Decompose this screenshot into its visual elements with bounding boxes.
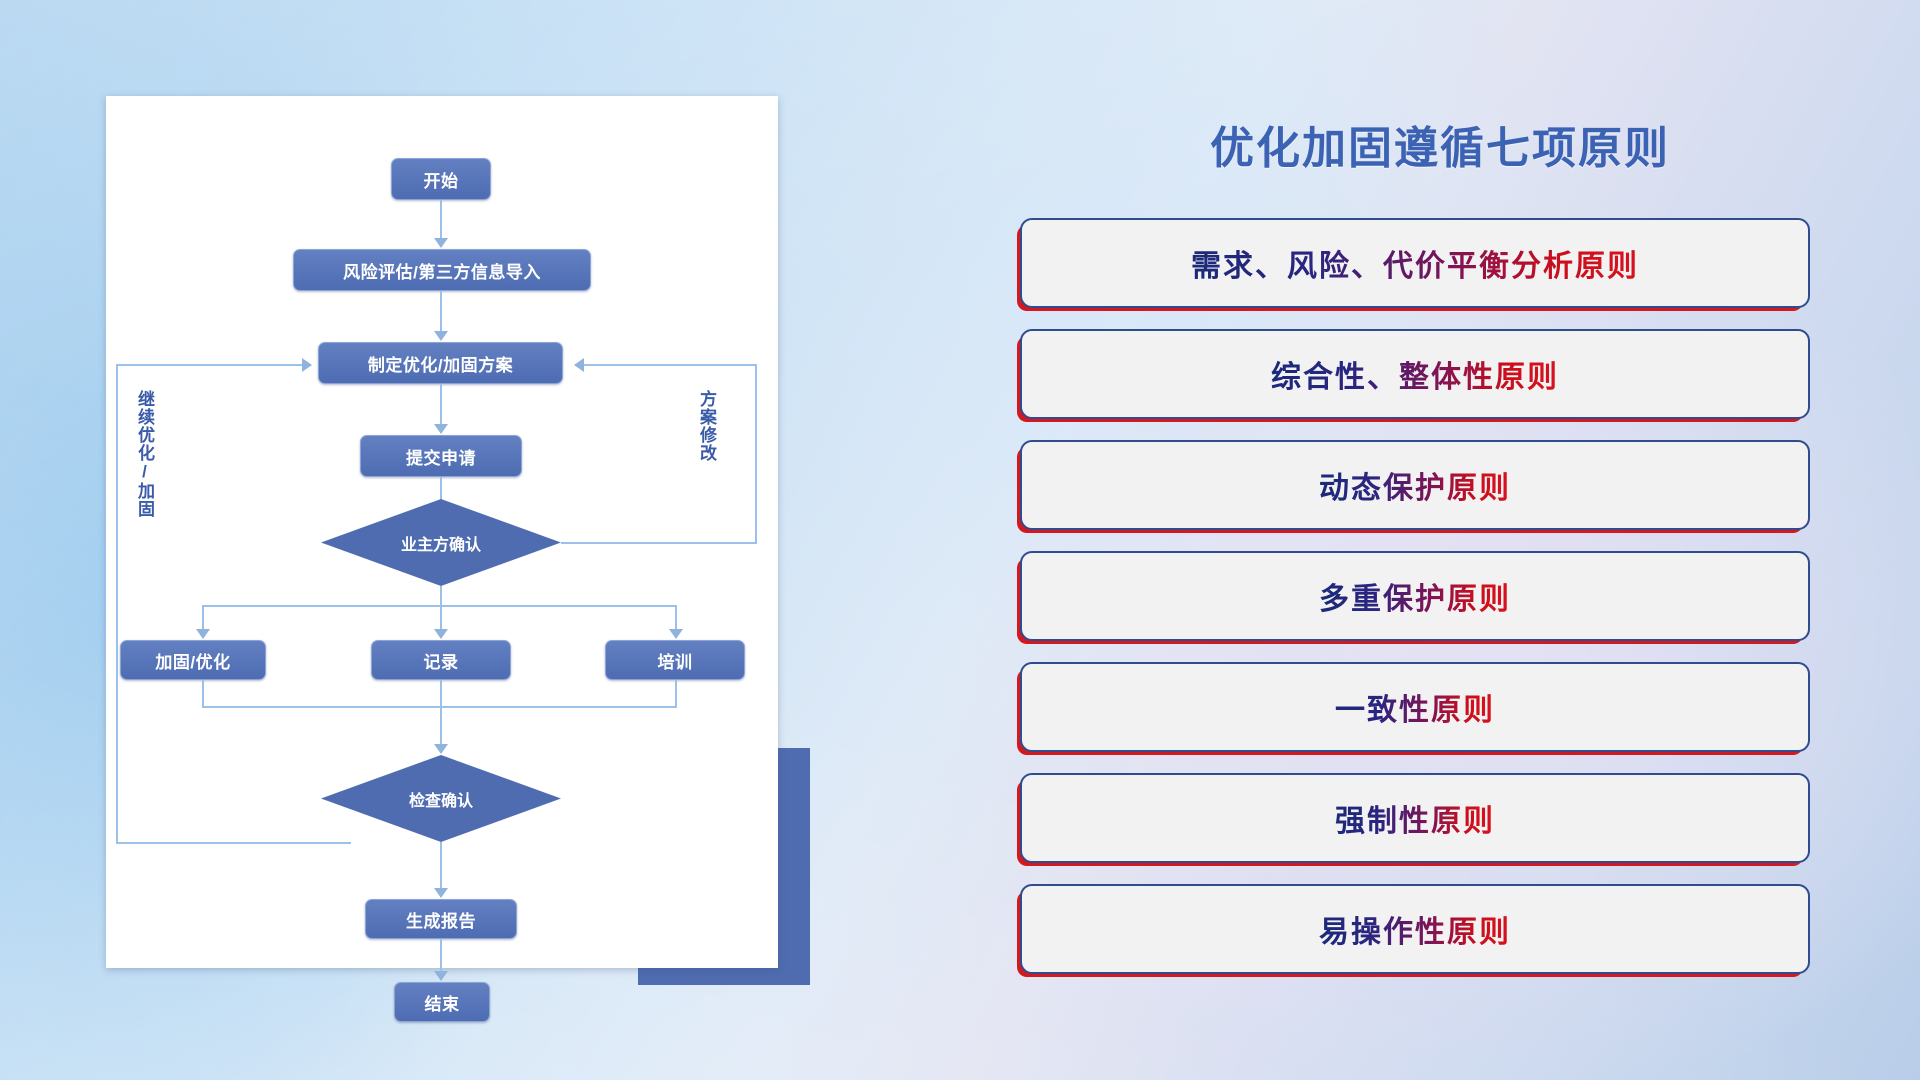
flow-node-generate-report-label: 生成报告 [406, 907, 476, 932]
connector-fanout-left [202, 605, 204, 631]
principle-card-2[interactable]: 综合性、整体性原则 [1020, 329, 1810, 419]
connector-loop-right-vertical [755, 364, 757, 544]
flow-node-submit-application[interactable]: 提交申请 [360, 435, 522, 477]
principle-label-6: 强制性原则 [1335, 796, 1495, 840]
principle-label-2: 综合性、整体性原则 [1271, 352, 1559, 396]
flow-node-end-label: 结束 [425, 990, 460, 1015]
connector-loop-right-top [584, 364, 757, 366]
principle-card-1[interactable]: 需求、风险、代价平衡分析原则 [1020, 218, 1810, 308]
principle-label-1: 需求、风险、代价平衡分析原则 [1191, 241, 1639, 285]
slide-canvas: 开始 风险评估/第三方信息导入 制定优化/加固方案 继续优化/加固 方案修改 [0, 0, 1920, 1080]
flow-node-record[interactable]: 记录 [371, 640, 511, 680]
principle-card-7[interactable]: 易操作性原则 [1020, 884, 1810, 974]
arrowhead-loop-right-into-plan [574, 358, 584, 372]
flow-node-submit-application-label: 提交申请 [406, 444, 476, 469]
connector-report-to-end [440, 939, 442, 973]
flow-node-inspection-confirm-label: 检查确认 [409, 787, 473, 811]
arrowhead-join-to-inspection [434, 744, 448, 754]
flow-node-end[interactable]: 结束 [394, 982, 490, 1022]
arrowhead-inspection-to-report [434, 888, 448, 898]
flow-node-start-label: 开始 [424, 167, 459, 192]
connector-loop-left-top [116, 364, 302, 366]
principle-card-5[interactable]: 一致性原则 [1020, 662, 1810, 752]
principle-card-4[interactable]: 多重保护原则 [1020, 551, 1810, 641]
flow-node-start[interactable]: 开始 [391, 158, 491, 200]
flow-node-risk-assessment[interactable]: 风险评估/第三方信息导入 [293, 249, 591, 291]
connector-reinforce-down [202, 680, 204, 708]
principles-panel: 优化加固遵循七项原则 需求、风险、代价平衡分析原则 综合性、整体性原则 动态保护… [1020, 96, 1850, 996]
flow-node-risk-assessment-label: 风险评估/第三方信息导入 [343, 258, 541, 283]
flow-node-reinforce-optimize[interactable]: 加固/优化 [120, 640, 266, 680]
flow-node-make-plan-label: 制定优化/加固方案 [368, 351, 513, 376]
principle-label-5: 一致性原则 [1335, 685, 1495, 729]
connector-training-down [675, 680, 677, 708]
flow-node-record-label: 记录 [424, 648, 459, 673]
edge-label-plan-revision: 方案修改 [698, 390, 715, 462]
connector-plan-to-submit [440, 384, 442, 426]
panel-title: 优化加固遵循七项原则 [1150, 112, 1730, 176]
principle-label-4: 多重保护原则 [1319, 574, 1511, 618]
flow-node-make-plan[interactable]: 制定优化/加固方案 [318, 342, 563, 384]
flow-node-owner-confirm[interactable]: 业主方确认 [321, 499, 561, 586]
connector-loop-left-bottom [116, 842, 351, 844]
flow-node-inspection-confirm[interactable]: 检查确认 [321, 755, 561, 842]
connector-start-to-risk [440, 200, 442, 240]
arrowhead-to-training [669, 629, 683, 639]
flow-node-reinforce-optimize-label: 加固/优化 [155, 648, 230, 673]
connector-join-to-inspection [440, 706, 442, 746]
principle-card-6[interactable]: 强制性原则 [1020, 773, 1810, 863]
connector-loop-right-bottom [561, 542, 757, 544]
arrowhead-loop-left-into-plan [302, 358, 312, 372]
flow-node-training-label: 培训 [658, 648, 693, 673]
arrowhead-plan-to-submit [434, 424, 448, 434]
arrowhead-report-to-end [434, 971, 448, 981]
principle-card-3[interactable]: 动态保护原则 [1020, 440, 1810, 530]
arrowhead-risk-to-plan [434, 331, 448, 341]
arrowhead-to-record [434, 629, 448, 639]
connector-risk-to-plan [440, 291, 442, 333]
edge-label-continue-optimize: 继续优化/加固 [136, 390, 153, 518]
connector-inspection-to-report [440, 842, 442, 890]
arrowhead-to-reinforce [196, 629, 210, 639]
principle-label-7: 易操作性原则 [1319, 907, 1511, 951]
flow-node-training[interactable]: 培训 [605, 640, 745, 680]
connector-fanout-right [675, 605, 677, 631]
connector-fanout-mid [440, 605, 442, 631]
connector-owner-confirm-down [440, 586, 442, 607]
flowchart-card: 开始 风险评估/第三方信息导入 制定优化/加固方案 继续优化/加固 方案修改 [106, 96, 778, 968]
connector-record-down [440, 680, 442, 708]
connector-loop-left-vertical [116, 364, 118, 844]
flow-node-owner-confirm-label: 业主方确认 [401, 531, 481, 555]
principle-label-3: 动态保护原则 [1319, 463, 1511, 507]
flow-node-generate-report[interactable]: 生成报告 [365, 899, 517, 939]
arrowhead-start-to-risk [434, 238, 448, 248]
